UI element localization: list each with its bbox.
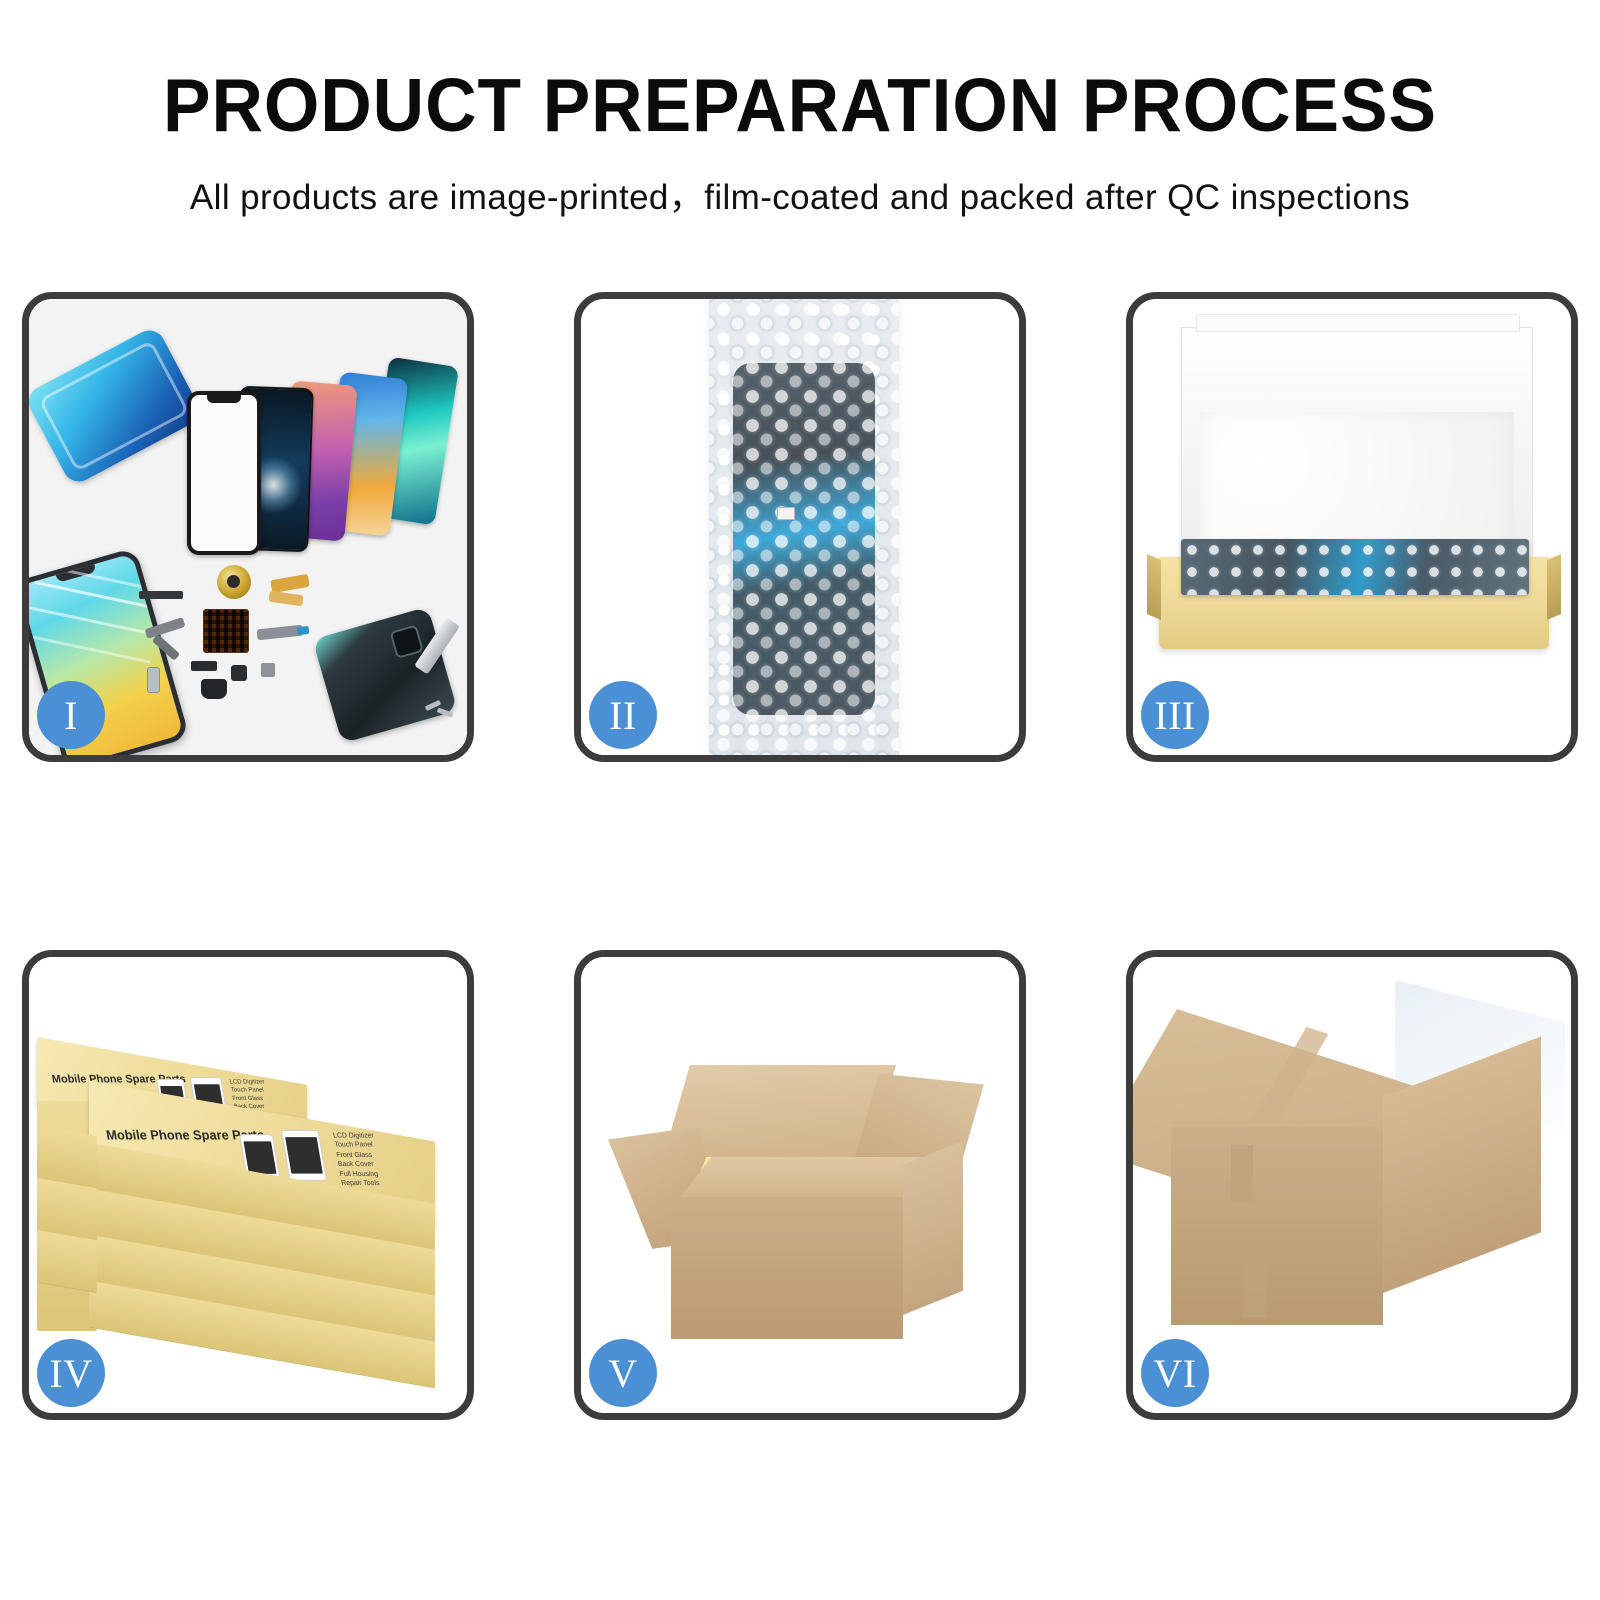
page-header: PRODUCT PREPARATION PROCESS All products… [0, 0, 1600, 220]
open-carton [633, 1045, 963, 1345]
carton-tape-upper [1231, 1145, 1253, 1203]
step-badge-6: VI [1141, 1339, 1209, 1407]
step-badge-2: II [589, 681, 657, 749]
step-panel-6[interactable]: VI [1126, 950, 1578, 1420]
retail-box-screen-img-2b [281, 1130, 327, 1181]
ic-chip-part [203, 609, 249, 653]
bubble-texture [709, 299, 899, 755]
page-title: PRODUCT PREPARATION PROCESS [40, 68, 1560, 143]
sim-tray-part [147, 667, 160, 693]
carton-tape-lower [1243, 1267, 1267, 1317]
step-badge-1: I [37, 681, 105, 749]
carton-front-face [1171, 1127, 1383, 1325]
adhesive-frame-part [29, 325, 205, 487]
screws-group [425, 701, 459, 719]
step-panel-3[interactable]: III [1126, 292, 1578, 762]
retail-box-back-layer-3 [37, 1230, 97, 1294]
step-panel-2[interactable]: II [574, 292, 1026, 762]
retail-box-checklist-2: LCD Digitizer Touch Panel Front Glass Ba… [332, 1131, 382, 1188]
wireless-coil-part [217, 565, 251, 599]
connector-part-2 [231, 665, 247, 681]
step-2-image [581, 299, 1019, 755]
page-subtitle: All products are image-printed，film-coat… [0, 169, 1600, 220]
step-5-image [581, 957, 1019, 1413]
step-panel-1[interactable]: I [22, 292, 474, 762]
ribbon-cable-1 [144, 617, 185, 639]
step-4-image: Mobile Phone Spare Parts LCD Digitizer T… [29, 957, 467, 1413]
retail-box-stack: Mobile Phone Spare Parts LCD Digitizer T… [31, 983, 467, 1403]
carton-front-face [671, 1197, 903, 1339]
carton-side-right [903, 1141, 963, 1315]
front-glass-panel [187, 391, 261, 555]
process-row-bottom: Mobile Phone Spare Parts LCD Digitizer T… [0, 950, 1600, 1420]
flex-cable-a [270, 574, 310, 593]
step-1-image [29, 299, 467, 755]
ribbon-cable-3 [257, 625, 304, 641]
wrapped-screen-in-box [1181, 539, 1529, 595]
step-badge-3: III [1141, 681, 1209, 749]
step-badge-5: V [589, 1339, 657, 1407]
step-panel-5[interactable]: V [574, 950, 1026, 1420]
phone-back-housing [312, 607, 457, 744]
process-grid: I II III [0, 292, 1600, 1420]
bubble-wrap-package [709, 299, 899, 755]
step-6-image [1133, 957, 1571, 1413]
ribbon-cable-2 [152, 634, 180, 661]
step-panel-4[interactable]: Mobile Phone Spare Parts LCD Digitizer T… [22, 950, 474, 1420]
flex-cable-b [268, 591, 303, 607]
earpiece-speaker-part [201, 679, 227, 699]
connector-part-1 [191, 661, 217, 671]
package-label-tag [777, 507, 795, 520]
step-badge-4: IV [37, 1339, 105, 1407]
sealed-carton [1155, 999, 1565, 1371]
step-3-image [1133, 299, 1571, 755]
phone-fan-group [181, 361, 467, 561]
process-row-top: I II III [0, 292, 1600, 762]
speaker-grille-part [139, 591, 183, 599]
small-parts-group [129, 561, 467, 741]
vibration-motor-part [261, 663, 275, 677]
